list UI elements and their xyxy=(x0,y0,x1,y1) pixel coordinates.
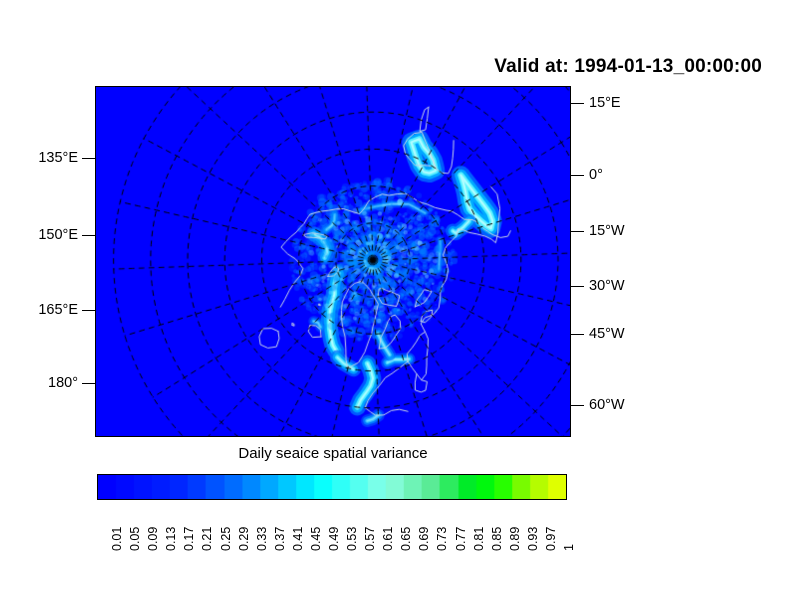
colorbar-tick-label: 0.81 xyxy=(473,527,486,551)
map-caption: Daily seaice spatial variance xyxy=(95,445,571,462)
colorbar-tick-label: 0.05 xyxy=(129,527,142,551)
colorbar-tick-label: 0.89 xyxy=(509,527,522,551)
right-tick-1 xyxy=(571,175,584,176)
colorbar[interactable] xyxy=(97,474,567,500)
right-axis-label-0: 15°E xyxy=(589,96,621,111)
colorbar-tick-label: 0.69 xyxy=(418,527,431,551)
colorbar-tick-label: 0.25 xyxy=(220,527,233,551)
colorbar-tick-label: 0.61 xyxy=(382,527,395,551)
colorbar-tick-label: 1 xyxy=(563,544,576,551)
left-tick-0 xyxy=(82,158,95,159)
colorbar-tick-label: 0.65 xyxy=(400,527,413,551)
colorbar-tick-label: 0.21 xyxy=(201,527,214,551)
colorbar-tick-label: 0.57 xyxy=(364,527,377,551)
colorbar-tick-label: 0.49 xyxy=(328,527,341,551)
left-axis-label-3: 180° xyxy=(48,376,78,391)
right-axis-label-1: 0° xyxy=(589,168,603,183)
colorbar-tick-label: 0.53 xyxy=(346,527,359,551)
colorbar-tick-label: 0.41 xyxy=(292,527,305,551)
colorbar-tick-label: 0.01 xyxy=(111,527,124,551)
colorbar-tick-label: 0.37 xyxy=(274,527,287,551)
right-tick-5 xyxy=(571,405,584,406)
right-axis-label-2: 15°W xyxy=(589,224,625,239)
right-tick-3 xyxy=(571,286,584,287)
colorbar-tick-label: 0.73 xyxy=(436,527,449,551)
right-tick-0 xyxy=(571,103,584,104)
colorbar-gradient[interactable] xyxy=(97,474,567,500)
colorbar-tick-label: 0.09 xyxy=(147,527,160,551)
colorbar-tick-label: 0.97 xyxy=(545,527,558,551)
colorbar-tick-label: 0.77 xyxy=(455,527,468,551)
left-tick-1 xyxy=(82,235,95,236)
right-axis-label-3: 30°W xyxy=(589,279,625,294)
left-tick-3 xyxy=(82,383,95,384)
figure-title: Valid at: 1994-01-13_00:00:00 xyxy=(0,56,762,78)
map-panel[interactable] xyxy=(95,86,571,437)
colorbar-tick-label: 0.29 xyxy=(238,527,251,551)
right-axis-label-4: 45°W xyxy=(589,327,625,342)
right-tick-2 xyxy=(571,231,584,232)
colorbar-tick-label: 0.17 xyxy=(183,527,196,551)
map-plot-area[interactable] xyxy=(96,87,570,436)
right-axis-label-5: 60°W xyxy=(589,398,625,413)
left-tick-2 xyxy=(82,310,95,311)
colorbar-tick-label: 0.13 xyxy=(165,527,178,551)
colorbar-tick-label: 0.33 xyxy=(256,527,269,551)
left-axis-label-0: 135°E xyxy=(38,151,78,166)
left-axis-label-1: 150°E xyxy=(38,228,78,243)
right-tick-4 xyxy=(571,334,584,335)
colorbar-tick-label: 0.85 xyxy=(491,527,504,551)
colorbar-tick-labels: 0.010.050.090.130.170.210.250.290.330.37… xyxy=(97,503,567,555)
left-axis-label-2: 165°E xyxy=(38,303,78,318)
colorbar-tick-label: 0.45 xyxy=(310,527,323,551)
colorbar-tick-label: 0.93 xyxy=(527,527,540,551)
